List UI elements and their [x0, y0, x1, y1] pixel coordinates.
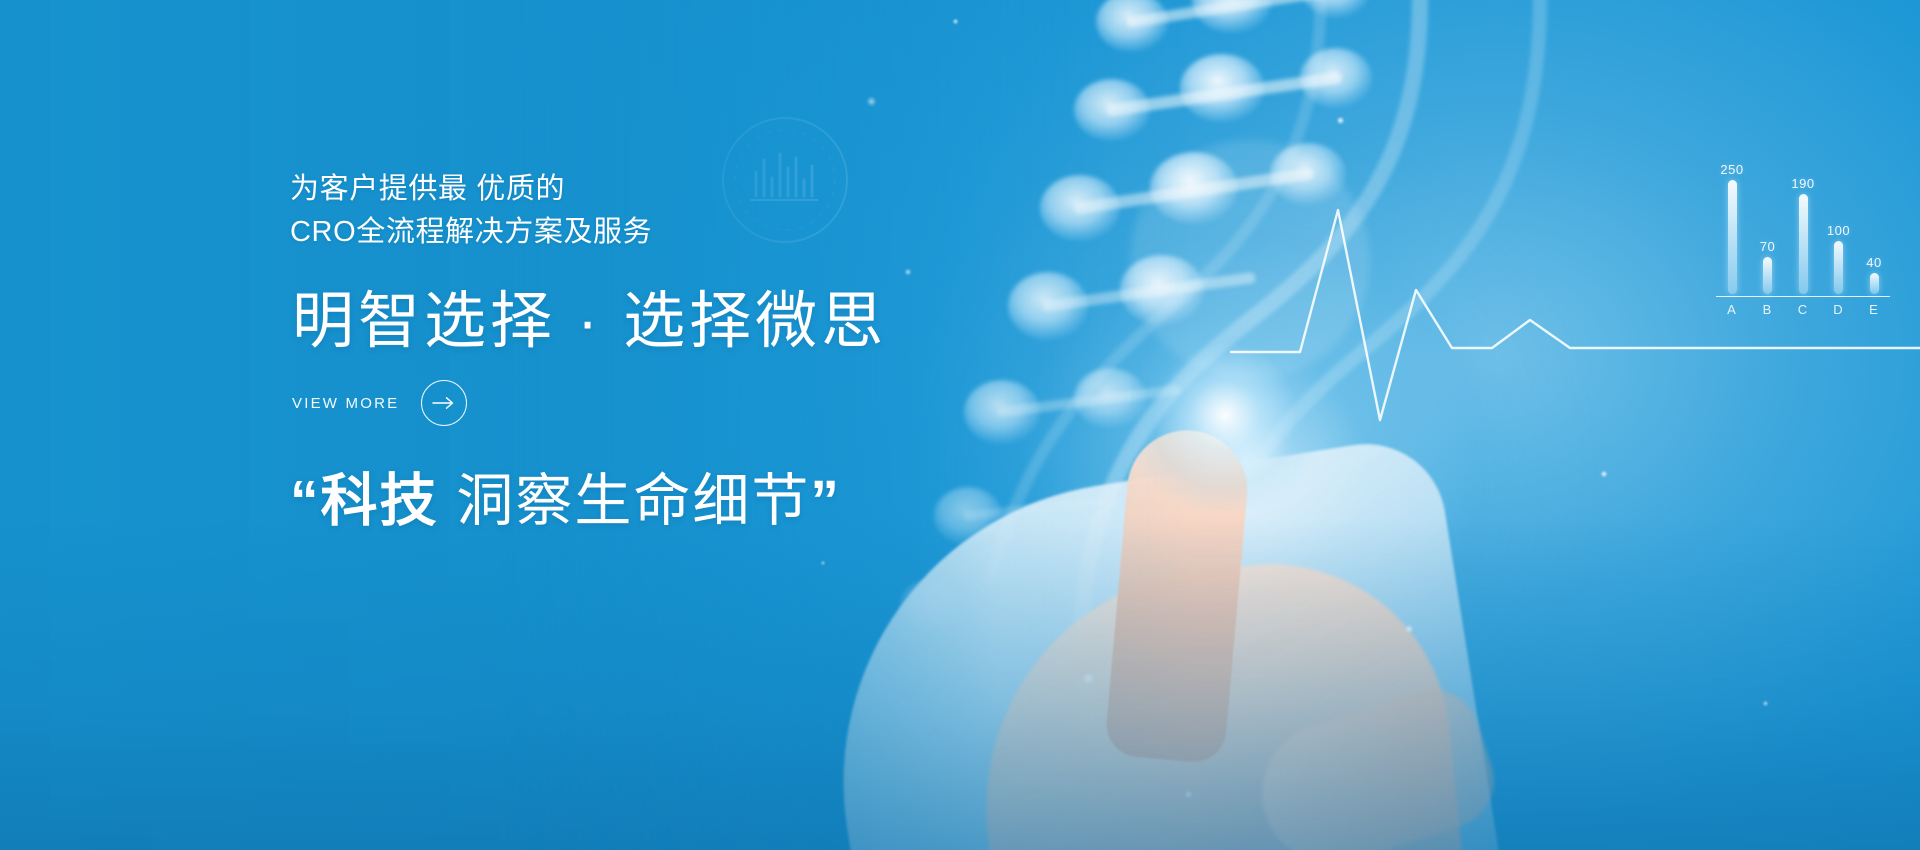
subtitle-line-1: 为客户提供最 优质的 — [290, 168, 652, 211]
subtitle-line-2: CRO全流程解决方案及服务 — [290, 211, 652, 254]
arrow-right-icon[interactable] — [421, 380, 467, 426]
quote-open-mark: “ — [290, 469, 321, 533]
view-more-button[interactable]: VIEW MORE — [292, 380, 467, 426]
quote-light-text: 洞察生命细节 — [439, 469, 811, 533]
quote-strong-text: 科技 — [321, 469, 439, 533]
quote-close-mark: ” — [810, 469, 841, 533]
view-more-label: VIEW MORE — [292, 395, 399, 412]
hero-subtitle: 为客户提供最 优质的 CRO全流程解决方案及服务 — [290, 168, 652, 253]
hero-headline: 明智选择 · 选择微思 — [292, 270, 887, 360]
hero-quote: “科技 洞察生命细节” — [290, 455, 841, 537]
hero-content: 为客户提供最 优质的 CRO全流程解决方案及服务 明智选择 · 选择微思 VIE… — [290, 0, 1050, 850]
hero-banner: 250 70 190 100 40 A B C — [0, 0, 1920, 850]
